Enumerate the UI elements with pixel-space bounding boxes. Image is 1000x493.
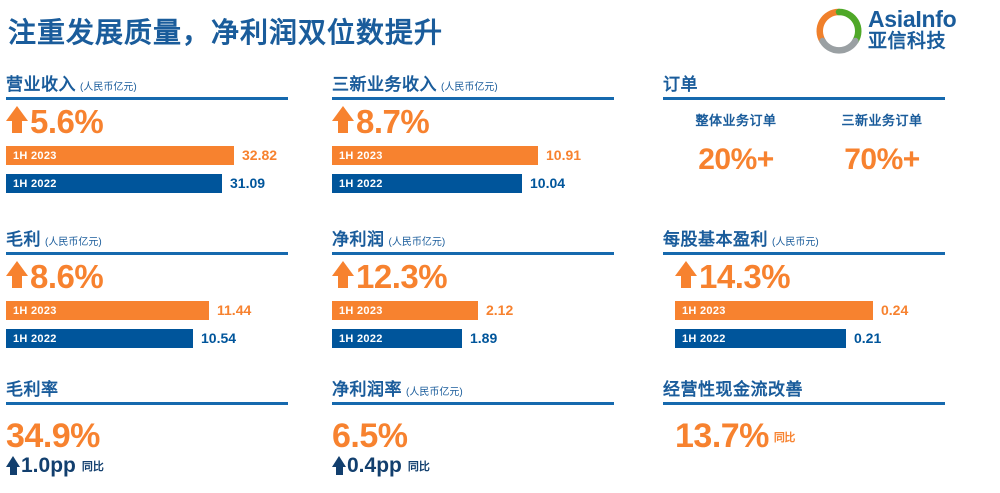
order-value: 70%+ (809, 143, 955, 177)
delta-percent: 14.3% (699, 259, 790, 295)
ratio-yoy-label: 同比 (774, 432, 795, 444)
bar-label: 1H 2022 (332, 178, 383, 190)
bar-chart: 1H 2023 2.12 1H 2022 1.89 (332, 301, 620, 348)
bar-2022: 1H 2022 (6, 174, 222, 193)
delta-line: 14.3% (663, 259, 955, 299)
arrow-up-icon (6, 104, 28, 134)
bar-row: 1H 2022 10.04 (332, 174, 620, 193)
order-column-overall: 整体业务订单 20%+ (663, 110, 809, 177)
bar-2022: 1H 2022 (332, 174, 522, 193)
card-header: 毛利率 (6, 375, 294, 405)
bar-row: 1H 2022 10.54 (6, 329, 294, 348)
slide-header: 注重发展质量，净利润双位数提升 AsiaInfo 亚信科技 (0, 0, 1000, 64)
metric-card-operating-cash-flow: 经营性现金流改善 13.7%同比 (663, 375, 955, 493)
bar-value: 32.82 (242, 147, 277, 163)
card-unit: (人民币亿元) (441, 78, 498, 93)
bar-2023: 1H 2023 (675, 301, 873, 320)
bar-chart: 1H 2023 0.24 1H 2022 0.21 (663, 301, 955, 348)
card-title: 净利润 (332, 225, 385, 250)
arrow-up-icon (332, 455, 347, 476)
order-value: 20%+ (663, 143, 809, 177)
bar-value: 2.12 (486, 302, 513, 318)
logo-text-cn: 亚信科技 (868, 31, 988, 52)
bar-row: 1H 2022 0.21 (675, 329, 955, 348)
card-divider (6, 252, 288, 255)
card-unit: (人民币元) (772, 233, 819, 248)
bar-chart: 1H 2023 11.44 1H 2022 10.54 (6, 301, 294, 348)
card-unit: (人民币亿元) (406, 383, 463, 398)
card-divider (6, 402, 288, 405)
card-divider (663, 402, 945, 405)
bar-label: 1H 2022 (6, 178, 57, 190)
bar-label: 1H 2023 (6, 150, 57, 162)
card-title: 毛利 (6, 225, 41, 250)
arrow-up-icon (6, 259, 28, 289)
metric-card-gross-profit: 毛利(人民币亿元) 8.6% 1H 2023 11.44 1H 2022 10. (6, 225, 294, 361)
metric-card-net-margin: 净利润率(人民币亿元) 6.5% 0.4pp同比 (332, 375, 620, 493)
bar-row: 1H 2022 31.09 (6, 174, 294, 193)
orders-columns: 整体业务订单 20%+ 三新业务订单 70%+ (663, 110, 955, 177)
arrow-up-icon (332, 104, 354, 134)
card-header: 每股基本盈利(人民币元) (663, 225, 955, 255)
card-title: 每股基本盈利 (663, 225, 768, 250)
bar-label: 1H 2022 (332, 333, 383, 345)
bar-value: 10.91 (546, 147, 581, 163)
bar-value: 10.54 (201, 330, 236, 346)
delta-line: 12.3% (332, 259, 620, 299)
bar-value: 10.04 (530, 175, 565, 191)
ratio-block: 13.7%同比 (663, 417, 955, 457)
arrow-up-icon (675, 259, 697, 289)
bar-label: 1H 2023 (675, 305, 726, 317)
delta-percent: 5.6% (30, 104, 103, 140)
logo-text-en: AsiaInfo (868, 7, 988, 31)
card-header: 毛利(人民币亿元) (6, 225, 294, 255)
metric-card-net-profit: 净利润(人民币亿元) 12.3% 1H 2023 2.12 1H 2022 1. (332, 225, 620, 361)
ratio-value: 34.9% (6, 417, 294, 455)
ratio-delta: 1.0pp (21, 455, 76, 477)
delta-line: 8.7% (332, 104, 620, 144)
bar-value: 0.21 (854, 330, 881, 346)
ratio-delta: 0.4pp (347, 455, 402, 477)
bar-label: 1H 2023 (332, 150, 383, 162)
card-unit: (人民币亿元) (80, 78, 137, 93)
bar-row: 1H 2023 10.91 (332, 146, 620, 165)
bar-row: 1H 2022 1.89 (332, 329, 620, 348)
arrow-up-icon (6, 455, 21, 476)
order-label: 整体业务订单 (663, 110, 809, 129)
asiainfo-ring-icon (816, 8, 862, 54)
card-divider (332, 402, 614, 405)
bar-2022: 1H 2022 (6, 329, 193, 348)
bar-2022: 1H 2022 (675, 329, 846, 348)
card-title: 经营性现金流改善 (663, 375, 803, 400)
ratio-value-wrap: 13.7%同比 (675, 417, 955, 457)
order-column-three-new: 三新业务订单 70%+ (809, 110, 955, 177)
card-divider (332, 252, 614, 255)
delta-line: 5.6% (6, 104, 294, 144)
card-header: 净利润率(人民币亿元) (332, 375, 620, 405)
metric-card-gross-margin: 毛利率 34.9% 1.0pp同比 (6, 375, 294, 493)
card-unit: (人民币亿元) (45, 233, 102, 248)
bar-row: 1H 2023 11.44 (6, 301, 294, 320)
card-divider (663, 252, 945, 255)
metrics-grid: 营业收入(人民币亿元) 5.6% 1H 2023 32.82 1H 2022 3 (0, 64, 1000, 493)
delta-percent: 12.3% (356, 259, 447, 295)
card-title: 毛利率 (6, 375, 59, 400)
bar-2023: 1H 2023 (6, 146, 234, 165)
bar-label: 1H 2023 (332, 305, 383, 317)
card-header: 营业收入(人民币亿元) (6, 70, 294, 100)
ratio-block: 34.9% 1.0pp同比 (6, 417, 294, 479)
metric-card-revenue: 营业收入(人民币亿元) 5.6% 1H 2023 32.82 1H 2022 3 (6, 70, 294, 206)
bar-value: 31.09 (230, 175, 265, 191)
ratio-block: 6.5% 0.4pp同比 (332, 417, 620, 479)
bar-value: 0.24 (881, 302, 908, 318)
card-divider (332, 97, 614, 100)
order-label: 三新业务订单 (809, 110, 955, 129)
ratio-delta-line: 1.0pp同比 (6, 455, 294, 479)
metric-card-orders: 订单 整体业务订单 20%+ 三新业务订单 70%+ (663, 70, 955, 206)
card-unit: (人民币亿元) (389, 233, 446, 248)
asiainfo-logo: AsiaInfo 亚信科技 (816, 6, 988, 56)
bar-label: 1H 2022 (675, 333, 726, 345)
metric-card-eps: 每股基本盈利(人民币元) 14.3% 1H 2023 0.24 1H 2022 (663, 225, 955, 361)
card-header: 净利润(人民币亿元) (332, 225, 620, 255)
bar-chart: 1H 2023 10.91 1H 2022 10.04 (332, 146, 620, 193)
ratio-yoy-label: 同比 (82, 455, 104, 479)
card-divider (6, 97, 288, 100)
ratio-value: 6.5% (332, 417, 620, 455)
card-header: 订单 (663, 70, 955, 100)
card-header: 经营性现金流改善 (663, 375, 955, 405)
bar-chart: 1H 2023 32.82 1H 2022 31.09 (6, 146, 294, 193)
delta-percent: 8.7% (356, 104, 429, 140)
metric-card-three-new-revenue: 三新业务收入(人民币亿元) 8.7% 1H 2023 10.91 1H 2022 (332, 70, 620, 206)
bar-value: 11.44 (217, 302, 251, 318)
bar-label: 1H 2023 (6, 305, 57, 317)
ratio-yoy-label: 同比 (408, 455, 430, 479)
card-title: 营业收入 (6, 70, 76, 95)
bar-2023: 1H 2023 (6, 301, 209, 320)
bar-row: 1H 2023 32.82 (6, 146, 294, 165)
delta-line: 8.6% (6, 259, 294, 299)
bar-label: 1H 2022 (6, 333, 57, 345)
bar-2023: 1H 2023 (332, 301, 478, 320)
page-title: 注重发展质量，净利润双位数提升 (8, 11, 443, 51)
card-divider (663, 97, 945, 100)
card-header: 三新业务收入(人民币亿元) (332, 70, 620, 100)
bar-2022: 1H 2022 (332, 329, 462, 348)
card-title: 三新业务收入 (332, 70, 437, 95)
ratio-value: 13.7% (675, 417, 769, 455)
slide-canvas: 注重发展质量，净利润双位数提升 AsiaInfo 亚信科技 营业收入(人民币亿元… (0, 0, 1000, 493)
arrow-up-icon (332, 259, 354, 289)
card-title: 订单 (663, 70, 698, 95)
asiainfo-logo-text: AsiaInfo 亚信科技 (868, 7, 988, 52)
card-title: 净利润率 (332, 375, 402, 400)
delta-percent: 8.6% (30, 259, 103, 295)
bar-row: 1H 2023 0.24 (675, 301, 955, 320)
ratio-delta-line: 0.4pp同比 (332, 455, 620, 479)
bar-2023: 1H 2023 (332, 146, 538, 165)
bar-value: 1.89 (470, 330, 497, 346)
bar-row: 1H 2023 2.12 (332, 301, 620, 320)
